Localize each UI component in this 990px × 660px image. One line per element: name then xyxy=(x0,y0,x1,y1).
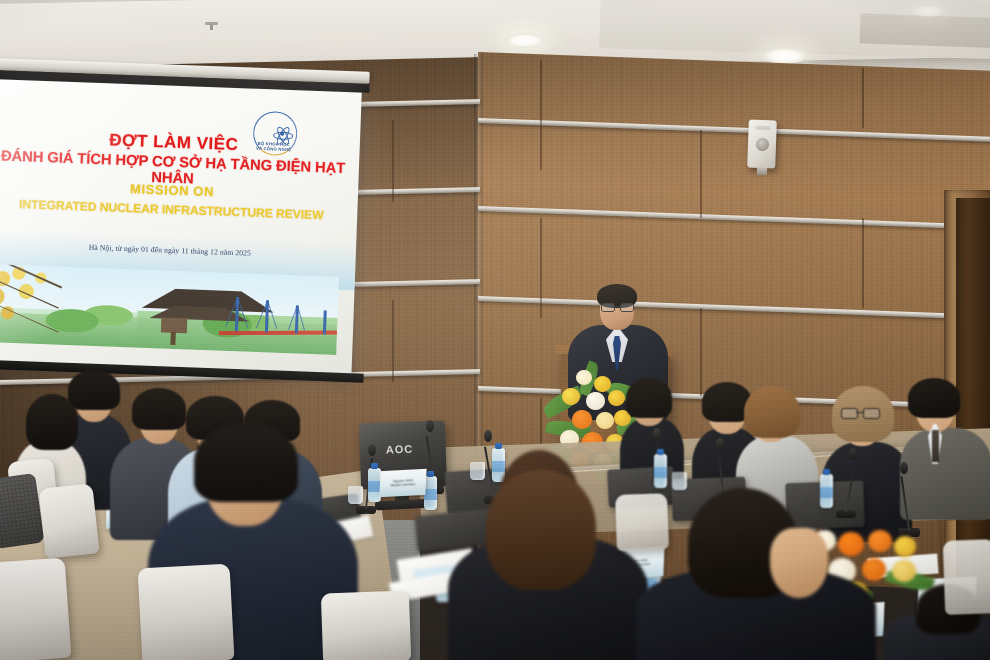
water-bottle xyxy=(654,454,667,488)
nameplate-line2: Mission Member xyxy=(390,482,415,488)
ceiling-downlight xyxy=(505,33,545,48)
drinking-glass xyxy=(348,486,363,504)
conference-room-photo: BỘ KHOA HỌC VÀ CÔNG NGHỆ ĐỢT LÀM VIỆC ĐÁ… xyxy=(0,0,990,660)
presentation-slide: BỘ KHOA HỌC VÀ CÔNG NGHỆ ĐỢT LÀM VIỆC ĐÁ… xyxy=(0,79,362,374)
panel-seam xyxy=(862,68,864,128)
office-chair[interactable] xyxy=(38,483,99,558)
water-bottle xyxy=(820,474,833,508)
office-chair[interactable] xyxy=(943,539,990,615)
panel-seam xyxy=(540,218,542,318)
slide-panorama-image xyxy=(0,264,339,355)
panel-seam xyxy=(392,300,394,382)
speaker-bracket xyxy=(757,166,767,175)
ceiling-air-vent xyxy=(860,13,990,48)
eyeglasses-icon xyxy=(841,408,879,418)
panel-seam xyxy=(540,60,542,170)
panel-seam xyxy=(700,308,702,396)
panel-seam xyxy=(392,120,394,202)
room-door[interactable] xyxy=(956,198,990,590)
panel-seam xyxy=(700,130,702,218)
office-chair[interactable] xyxy=(0,558,71,660)
ceiling-downlight xyxy=(912,5,946,17)
office-chair[interactable] xyxy=(615,493,669,551)
nameplate: Nguyen Minh Mission Member xyxy=(379,469,426,498)
panel-seam xyxy=(862,218,864,308)
monitor-brand-label: AOC xyxy=(386,444,414,457)
panorama-one-pillar-pagoda-icon xyxy=(136,288,212,347)
eyeglasses-icon xyxy=(601,303,633,311)
sprinkler-icon xyxy=(205,22,218,31)
office-chair[interactable] xyxy=(138,564,235,660)
ceiling-downlight xyxy=(763,48,807,64)
drinking-glass xyxy=(470,462,485,480)
drinking-glass xyxy=(672,472,687,490)
wall-speaker-icon xyxy=(747,120,777,169)
office-chair[interactable] xyxy=(321,590,411,660)
projection-screen: BỘ KHOA HỌC VÀ CÔNG NGHỆ ĐỢT LÀM VIỆC ĐÁ… xyxy=(0,79,362,374)
